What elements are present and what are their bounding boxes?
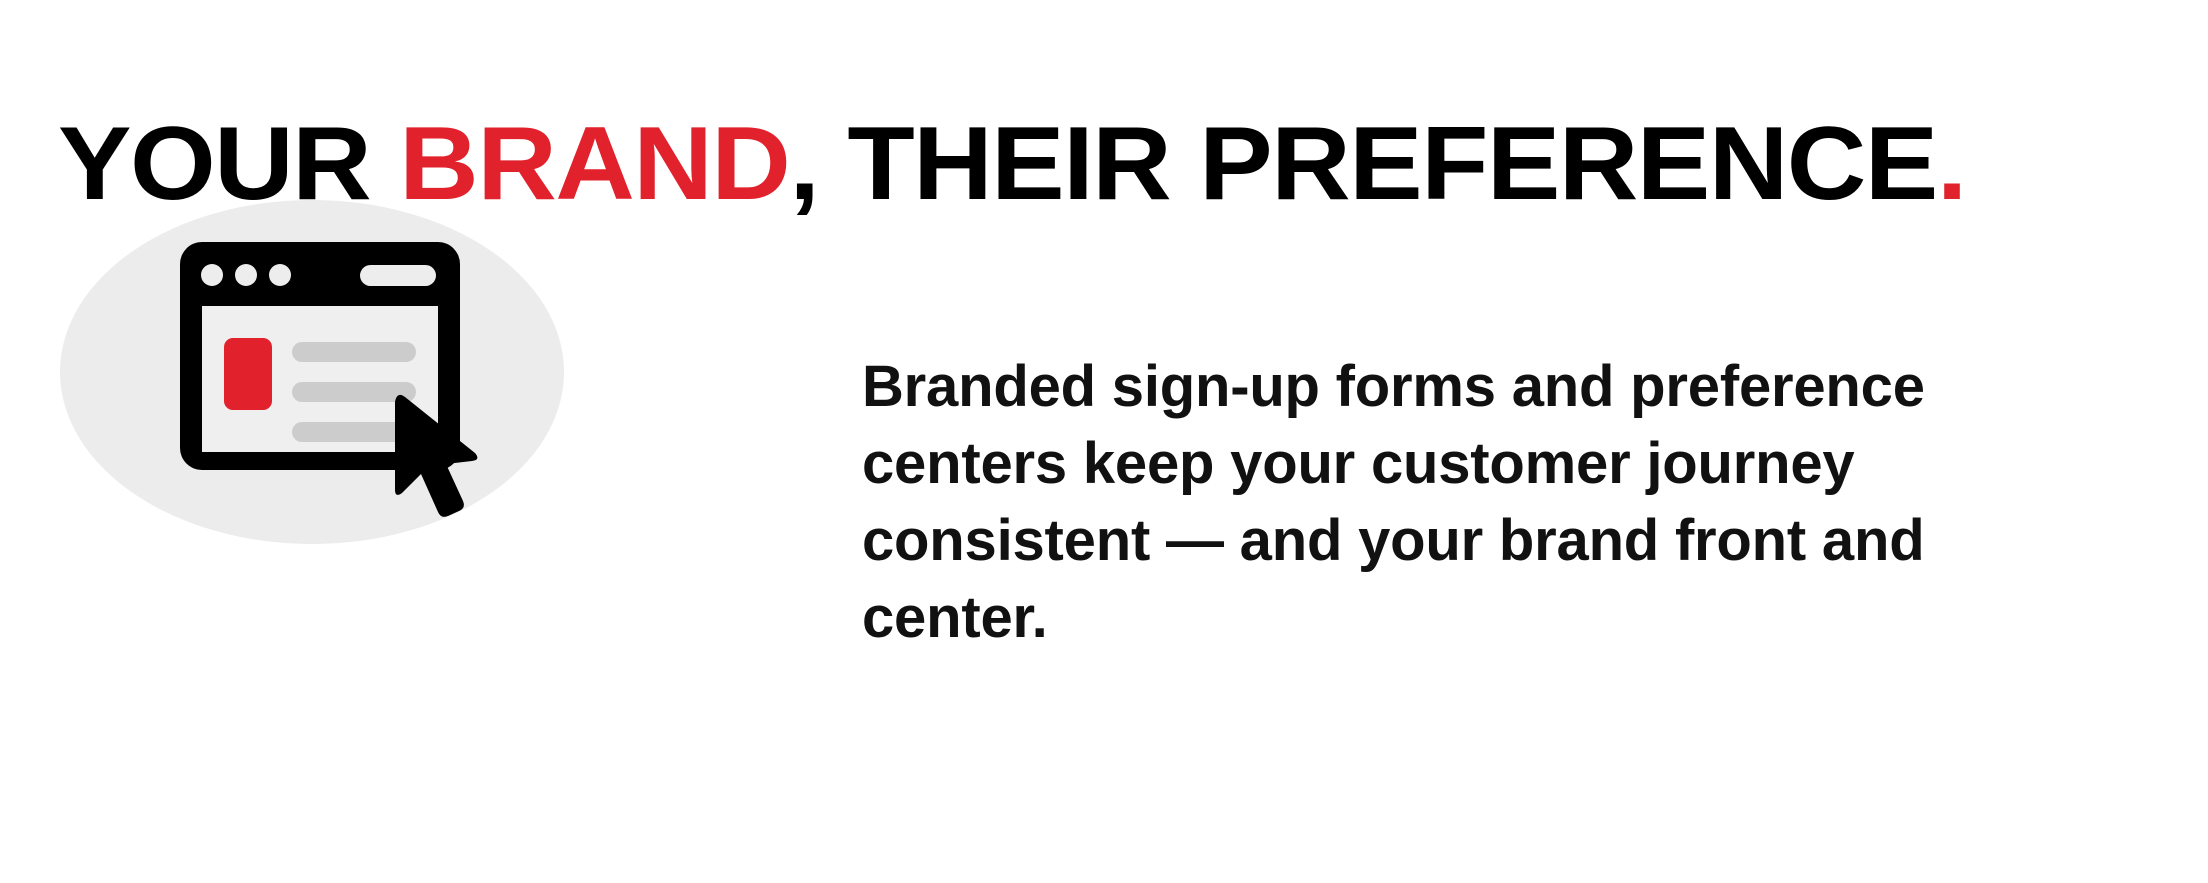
- form-field-bar: [292, 342, 416, 362]
- body-copy-line: consistent — and your brand front and: [862, 502, 2042, 579]
- body-copy: Branded sign-up forms and preference cen…: [862, 348, 2042, 656]
- brand-logo-block: [224, 338, 272, 410]
- headline-segment-their-preference: , THEIR PREFERENCE: [789, 106, 1936, 222]
- slide-canvas: YOUR BRAND, THEIR PREFERENCE.: [0, 0, 2208, 883]
- window-dot-minimize-icon: [235, 264, 257, 286]
- address-bar-pill: [360, 265, 436, 286]
- body-copy-line: Branded sign-up forms and preference: [862, 348, 2042, 425]
- body-copy-line: center.: [862, 579, 2042, 656]
- headline-segment-period: .: [1937, 106, 1966, 222]
- window-dot-maximize-icon: [269, 264, 291, 286]
- body-copy-line: centers keep your customer journey: [862, 425, 2042, 502]
- browser-window-illustration-svg: [60, 190, 640, 590]
- illustration-branded-signup-form: [60, 190, 640, 590]
- window-dot-close-icon: [201, 264, 223, 286]
